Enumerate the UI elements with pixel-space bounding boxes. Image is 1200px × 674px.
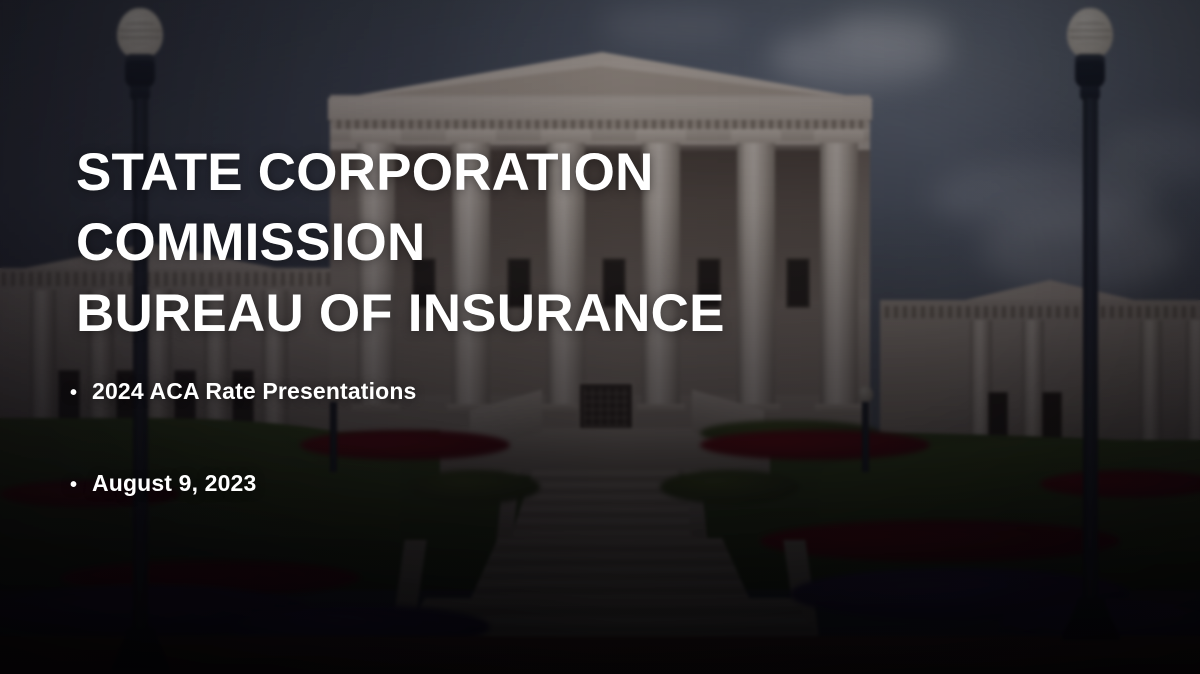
bullet-marker-icon: • [70, 475, 92, 495]
title-line-1: STATE CORPORATION [76, 138, 836, 208]
title-line-2: COMMISSION [76, 208, 836, 278]
list-item: • 2024 ACA Rate Presentations [70, 378, 770, 405]
slide-title: STATE CORPORATION COMMISSION BUREAU OF I… [76, 138, 836, 349]
slide-content: STATE CORPORATION COMMISSION BUREAU OF I… [0, 0, 1200, 674]
slide-bullet-list: • 2024 ACA Rate Presentations • August 9… [70, 378, 770, 497]
title-slide: STATE CORPORATION COMMISSION BUREAU OF I… [0, 0, 1200, 674]
bullet-text-date: August 9, 2023 [92, 470, 770, 497]
title-line-3: BUREAU OF INSURANCE [76, 279, 836, 349]
bullet-text-subtitle: 2024 ACA Rate Presentations [92, 378, 770, 405]
list-item: • August 9, 2023 [70, 470, 770, 497]
bullet-marker-icon: • [70, 383, 92, 403]
